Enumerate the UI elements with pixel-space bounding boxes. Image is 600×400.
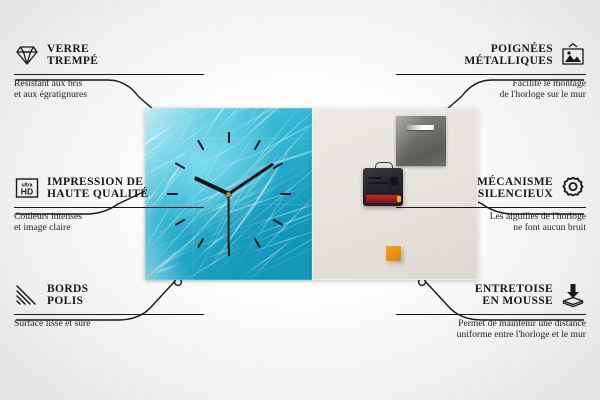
wall-hanger-frame-icon: [560, 42, 586, 68]
feature-title: VERRE TREMPÉ: [47, 43, 98, 68]
feature-entretoise-en-mousse: ENTRETOISE EN MOUSSE Permet de maintenir…: [396, 278, 586, 341]
feature-mecanisme-silencieux: MÉCANISME SILENCIEUX Les aiguilles de l'…: [396, 171, 586, 234]
feature-description: Les aiguilles de l'horloge ne font aucun…: [396, 211, 586, 234]
clock-center-pivot: [226, 192, 231, 197]
divider: [14, 207, 204, 208]
feature-title: MÉCANISME SILENCIEUX: [477, 176, 553, 201]
battery: [366, 195, 400, 203]
feature-description: Facilite le montage de l'horloge sur le …: [396, 78, 586, 101]
clock-hand-second: [228, 194, 230, 250]
polished-edge-icon: [14, 282, 40, 308]
ultra-hd-badge-icon: ultra HD: [14, 175, 40, 201]
foam-spacer: [386, 246, 401, 261]
press-foam-icon: [560, 282, 586, 308]
feature-bords-polis: BORDS POLIS Surface lisse et sûre: [14, 278, 204, 329]
svg-text:HD: HD: [21, 187, 33, 197]
keyhole-slot: [406, 125, 434, 130]
feature-description: Surface lisse et sûre: [14, 318, 204, 329]
feature-description: Permet de maintenir une distance uniform…: [396, 318, 586, 341]
feature-impression-haute-qualite: ultra HD IMPRESSION DE HAUTE QUALITÉ Cou…: [14, 171, 204, 234]
hanger-loop-icon: [375, 162, 393, 171]
mechanism-detail: [368, 182, 388, 184]
feature-title: POIGNÉES MÉTALLIQUES: [464, 43, 553, 68]
metal-hanger-plate: [396, 116, 446, 166]
clock-tick: [228, 132, 230, 194]
mechanism-detail: [368, 177, 382, 179]
feature-title: ENTRETOISE EN MOUSSE: [475, 283, 553, 308]
feature-description: Résistant aux bris et aux égratignures: [14, 78, 204, 101]
feature-poignees-metalliques: POIGNÉES MÉTALLIQUES Facilite le montage…: [396, 38, 586, 101]
divider: [396, 207, 586, 208]
diamond-icon: [14, 42, 40, 68]
feature-description: Couleurs intenses et image claire: [14, 211, 204, 234]
feature-verre-trempe: VERRE TREMPÉ Résistant aux bris et aux é…: [14, 38, 204, 101]
infographic-canvas: VERRE TREMPÉ Résistant aux bris et aux é…: [0, 0, 600, 400]
divider: [396, 314, 586, 315]
clock-tick: [229, 193, 291, 195]
clock-hand-minute: [228, 163, 274, 196]
gear-icon: [560, 175, 586, 201]
feature-title: IMPRESSION DE HAUTE QUALITÉ: [47, 176, 148, 201]
feature-title: BORDS POLIS: [47, 283, 88, 308]
divider: [14, 74, 204, 75]
divider: [396, 74, 586, 75]
divider: [14, 314, 204, 315]
